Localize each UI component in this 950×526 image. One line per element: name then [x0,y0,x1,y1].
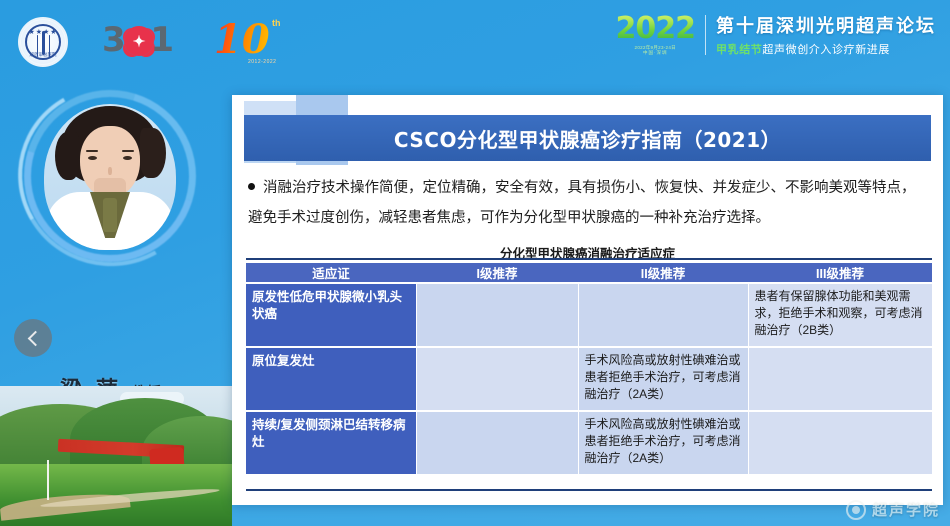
table-row: 原发性低危甲状腺微小乳头状癌 患者有保留腺体功能和美观需求，拒绝手术和观察，可考… [246,283,932,347]
table-header-indication: 适应证 [246,263,416,283]
table-row: 原位复发灶 手术风险高或放射性碘难治或患者拒绝手术治疗，可考虑消融治疗（2A类） [246,347,932,411]
table-top-rule [246,258,932,260]
speaker-photo [44,104,176,250]
row-2-level3 [748,411,932,475]
slide-title-bar: CSCO分化型甲状腺癌诊疗指南（2021） [244,115,931,161]
row-0-level3: 患者有保留腺体功能和美观需求，拒绝手术和观察，可考虑消融治疗（2B类） [748,283,932,347]
301-left-digit: 3 [102,20,126,60]
row-0-level2 [578,283,748,347]
landscape-field [0,464,232,526]
pla-general-hospital-emblem-icon: ★★★★ 解放军总医院 [18,17,68,67]
watermark-logo-icon [846,500,866,520]
portrait-brow-right [122,150,134,152]
forum-year: 2022 [616,14,696,44]
301-logo-icon: 3 1 [102,22,176,62]
row-2-level1 [416,411,578,475]
anniversary-ordinal: th [272,18,281,28]
landscape-background-image [0,386,232,526]
slide-title-text: CSCO分化型甲状腺癌诊疗指南（2021） [394,124,781,153]
emblem-caption: 解放军总医院 [20,52,66,58]
forum-location: 中国·深圳 [616,51,696,56]
row-2-indication: 持续/复发侧颈淋巴结转移病灶 [246,411,416,475]
table-header-level1: I级推荐 [416,263,578,283]
video-player-frame: ★★★★ 解放军总医院 3 1 10 th 2012-2022 2022 202… [0,0,950,526]
portrait-brow-left [86,150,98,152]
organizer-logo-row: ★★★★ 解放军总医院 3 1 10 th 2012-2022 [18,16,296,68]
watermark-text: 超声学院 [872,499,940,520]
anniversary-years: 2012-2022 [248,59,276,65]
row-1-level2: 手术风险高或放射性碘难治或患者拒绝手术治疗，可考虑消融治疗（2A类） [578,347,748,411]
301-right-digit: 1 [150,20,174,60]
portrait-eye-left [88,156,97,160]
row-1-level3 [748,347,932,411]
tenth-anniversary-logo-icon: 10 th 2012-2022 [210,16,296,68]
bullet-dot-icon [248,183,255,190]
watermark: 超声学院 [846,499,940,520]
forum-year-block: 2022 2022年9月23-24日 中国·深圳 [616,14,696,56]
emblem-stars: ★★★★ [20,28,66,36]
previous-button[interactable] [14,319,52,357]
anniversary-number: 10 [214,16,270,63]
table-header-level2: II级推荐 [578,263,748,283]
row-1-level1 [416,347,578,411]
speaker-portrait [24,90,196,262]
portrait-nose [108,167,112,175]
speaker-panel: 梁 萍 教授 中国人民解放军总医院 [0,74,222,404]
forum-subtitle: 甲乳结节超声微创介入诊疗新进展 [716,41,936,57]
forum-banner: 2022 2022年9月23-24日 中国·深圳 第十届深圳光明超声论坛 甲乳结… [616,12,937,57]
indications-table: 适应证 I级推荐 II级推荐 III级推荐 原发性低危甲状腺微小乳头状癌 患者有… [246,263,933,476]
portrait-white-coat [46,192,174,250]
landscape-pole [47,460,49,500]
row-2-level2: 手术风险高或放射性碘难治或患者拒绝手术治疗，可考虑消融治疗（2A类） [578,411,748,475]
slide-bullet-paragraph: 消融治疗技术操作简便，定位精确，安全有效，具有损伤小、恢复快、并发症少、不影响美… [248,173,924,233]
forum-title-block: 第十届深圳光明超声论坛 甲乳结节超声微创介入诊疗新进展 [716,12,936,57]
row-1-indication: 原位复发灶 [246,347,416,411]
forum-subtitle-rest: 超声微创介入诊疗新进展 [762,43,890,56]
row-0-level1 [416,283,578,347]
forum-divider [705,15,706,55]
table-row: 持续/复发侧颈淋巴结转移病灶 手术风险高或放射性碘难治或患者拒绝手术治疗，可考虑… [246,411,932,475]
table-header-level3: III级推荐 [748,263,932,283]
forum-title: 第十届深圳光明超声论坛 [716,12,936,38]
chevron-left-icon [27,330,43,346]
table-bottom-rule [246,489,932,491]
forum-subtitle-prefix: 甲乳结节 [716,43,762,56]
table-header-row: 适应证 I级推荐 II级推荐 III级推荐 [246,263,932,283]
slide-bullet-text: 消融治疗技术操作简便，定位精确，安全有效，具有损伤小、恢复快、并发症少、不影响美… [248,180,916,226]
row-0-indication: 原发性低危甲状腺微小乳头状癌 [246,283,416,347]
presentation-slide[interactable]: CSCO分化型甲状腺癌诊疗指南（2021） 消融治疗技术操作简便，定位精确，安全… [232,95,943,505]
portrait-eye-right [123,156,132,160]
